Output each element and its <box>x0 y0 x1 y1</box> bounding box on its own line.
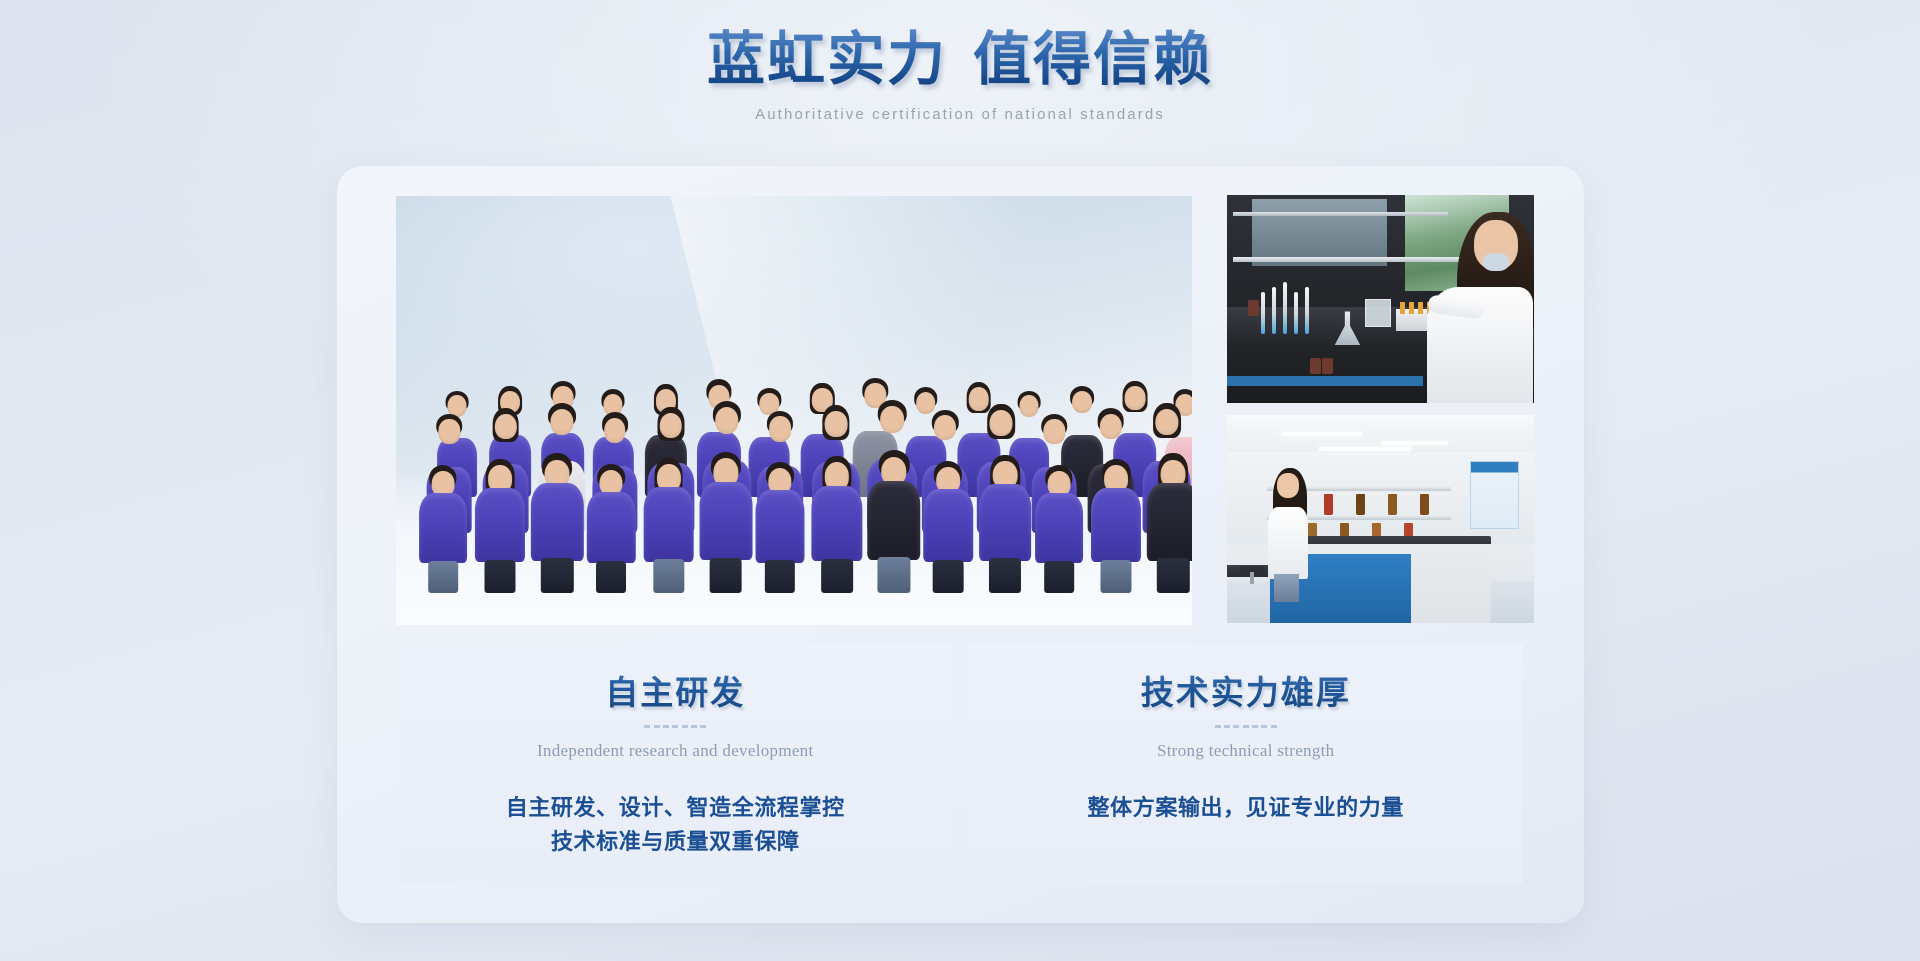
person-head <box>1099 414 1121 440</box>
lab1-reagent-bottle <box>1248 300 1259 316</box>
person-legs <box>989 558 1021 593</box>
person-legs <box>596 561 626 593</box>
lab2-stool-pole <box>1250 572 1254 584</box>
group-photo-person <box>1146 453 1192 593</box>
content-panel: 自主研发 Independent research and developmen… <box>337 166 1584 923</box>
person-torso <box>643 487 694 562</box>
pipette <box>1294 292 1298 334</box>
person-head <box>660 413 683 439</box>
feature-card-subtitle: Strong technical strength <box>969 741 1524 761</box>
person-legs <box>485 560 516 593</box>
person-legs <box>877 557 910 593</box>
feature-card-description: 整体方案输出，见证专业的力量 <box>969 791 1524 825</box>
page-root: 蓝虹实力值得信赖 Authoritative certification of … <box>0 0 1920 961</box>
lab1-beaker <box>1365 299 1391 327</box>
group-photo-person <box>866 450 922 593</box>
person-legs <box>541 558 573 593</box>
lab1-technician <box>1417 216 1534 403</box>
lab2-ceiling <box>1227 415 1534 457</box>
reagent-bottle <box>1356 494 1365 515</box>
page-subtitle: Authoritative certification of national … <box>0 106 1920 123</box>
feature-card-description-line: 技术标准与质量双重保障 <box>398 825 953 859</box>
feature-card-subtitle: Independent research and development <box>398 741 953 761</box>
group-photo-person <box>586 464 637 593</box>
page-title: 蓝虹实力值得信赖 <box>707 26 1213 94</box>
pipette <box>1272 287 1276 334</box>
group-photo-person <box>530 453 585 593</box>
lab1-reagent-bottle <box>1310 358 1321 374</box>
person-head <box>1155 409 1178 436</box>
person-head <box>934 415 956 440</box>
person-torso <box>979 484 1031 560</box>
group-photo-person <box>1090 459 1143 593</box>
person-torso <box>419 493 467 564</box>
lab1-interior-window <box>1252 199 1387 266</box>
group-photo-person <box>978 455 1032 593</box>
person-head <box>1044 419 1065 443</box>
person-torso <box>811 486 862 562</box>
person-head <box>825 411 848 437</box>
person-legs <box>709 558 742 593</box>
person-legs <box>653 559 684 593</box>
person-head <box>550 409 573 436</box>
person-legs <box>933 560 964 593</box>
person-torso <box>475 488 525 562</box>
person-legs <box>1157 558 1189 593</box>
group-photo-person <box>922 461 974 593</box>
lab2-technician-labcoat <box>1268 507 1308 579</box>
person-head <box>439 419 460 443</box>
reagent-bottle <box>1420 494 1429 515</box>
person-head <box>990 410 1013 436</box>
pipette <box>1305 287 1309 334</box>
group-photo-person <box>1034 465 1084 593</box>
feature-card-description-line: 整体方案输出，见证专业的力量 <box>969 791 1524 825</box>
feature-card-description: 自主研发、设计、智造全流程掌控 技术标准与质量双重保障 <box>398 791 953 859</box>
page-title-part1: 蓝虹实力 <box>707 27 947 92</box>
dotted-divider <box>1215 725 1277 729</box>
person-legs <box>821 559 853 593</box>
pipette <box>1283 282 1287 334</box>
feature-card-technical[interactable]: 技术实力雄厚 Strong technical strength 整体方案输出，… <box>969 644 1524 884</box>
person-torso <box>587 492 635 564</box>
lab1-technician-mask <box>1483 253 1509 271</box>
person-torso <box>531 483 583 560</box>
group-photo <box>396 196 1192 625</box>
lab2-stool <box>1239 566 1265 592</box>
person-torso <box>1091 488 1141 562</box>
group-photo-person <box>810 456 864 593</box>
person-torso <box>1035 493 1083 564</box>
lab2-blue-cabinet <box>1362 554 1411 623</box>
person-torso <box>1147 483 1192 560</box>
group-photo-person <box>474 459 527 593</box>
dotted-divider <box>644 725 706 729</box>
person-legs <box>1101 560 1132 593</box>
group-photo-person <box>642 458 695 593</box>
lab2-technician-face <box>1277 473 1299 498</box>
feature-card-rnd[interactable]: 自主研发 Independent research and developmen… <box>398 644 953 884</box>
person-torso <box>755 490 804 562</box>
person-head <box>604 418 626 443</box>
group-photo-person <box>754 462 805 593</box>
person-torso <box>923 489 973 562</box>
person-legs <box>764 560 794 593</box>
feature-cards: 自主研发 Independent research and developmen… <box>398 644 1523 884</box>
feature-card-title: 技术实力雄厚 <box>969 666 1524 714</box>
person-torso <box>699 482 752 560</box>
reagent-bottle <box>1388 494 1397 515</box>
lab-photo-room <box>1227 415 1534 623</box>
page-header: 蓝虹实力值得信赖 Authoritative certification of … <box>0 26 1920 123</box>
lab2-safety-poster <box>1470 461 1519 530</box>
lab2-technician <box>1264 473 1316 602</box>
feature-card-title: 自主研发 <box>398 666 953 714</box>
lab1-pipette-rack <box>1261 280 1322 334</box>
person-torso <box>867 481 920 560</box>
person-head <box>880 406 904 433</box>
lab1-upper-shelf <box>1233 212 1448 216</box>
group-photo-person <box>698 452 753 593</box>
lab2-technician-jeans <box>1274 574 1299 602</box>
page-title-part2: 值得信赖 <box>973 27 1213 92</box>
reagent-bottle <box>1324 494 1333 515</box>
group-photo-people <box>396 196 1192 625</box>
pipette <box>1261 292 1265 334</box>
lab1-reagent-bottle <box>1322 358 1333 374</box>
person-head <box>494 414 516 440</box>
person-legs <box>428 561 458 593</box>
person-legs <box>1044 561 1074 593</box>
person-head <box>715 407 739 434</box>
feature-card-description-line: 自主研发、设计、智造全流程掌控 <box>398 791 953 825</box>
person-head <box>769 416 791 441</box>
group-photo-person <box>418 465 468 593</box>
lab-photo-pipetting <box>1227 195 1534 403</box>
lab1-bench-edge <box>1227 376 1423 386</box>
